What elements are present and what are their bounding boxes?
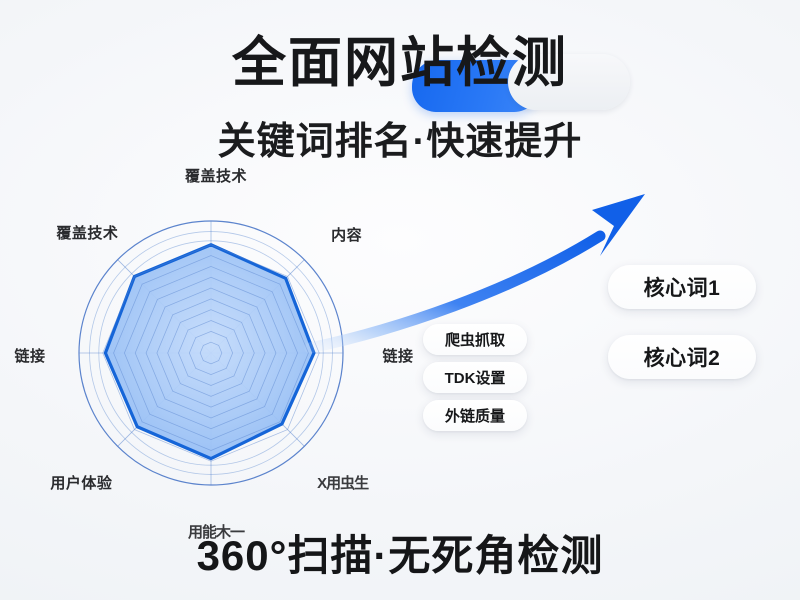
pill-keyword-1[interactable]: 核心词1	[608, 265, 756, 309]
radar-axis-label-3: X⽤⾍⽣	[308, 472, 378, 493]
pill-keyword-2-label: 核心词2	[644, 342, 721, 372]
pill-crawler-label: 爬虫抓取	[445, 329, 505, 350]
radar-axis-label-5: 用户体验	[46, 472, 116, 493]
pill-keyword-1-label: 核心词1	[644, 272, 721, 302]
pill-tdk-label: TDK设置	[445, 367, 506, 388]
header-block: 全面网站检测 关键词排名·快速提升	[0, 0, 800, 165]
radar-axis-label-6: 链接	[0, 345, 65, 366]
page-title: 全面网站检测	[232, 34, 568, 92]
pill-tdk[interactable]: TDK设置	[423, 362, 527, 393]
page-subtitle: 关键词排名·快速提升	[0, 110, 800, 165]
pill-keyword-2[interactable]: 核心词2	[608, 335, 756, 379]
pill-backlink-label: 外链质量	[445, 405, 505, 426]
pill-backlink[interactable]: 外链质量	[423, 400, 527, 431]
pill-crawler[interactable]: 爬虫抓取	[423, 324, 527, 355]
radar-series-area	[105, 245, 314, 459]
radar-axis-label-0: 覆盖技术	[181, 165, 251, 186]
radar-axis-label-7: 覆盖技术	[52, 222, 122, 243]
page-footer-tagline: 360°扫描·无死角检测	[0, 522, 800, 583]
page-title-wrapper: 全面网站检测	[228, 34, 572, 92]
